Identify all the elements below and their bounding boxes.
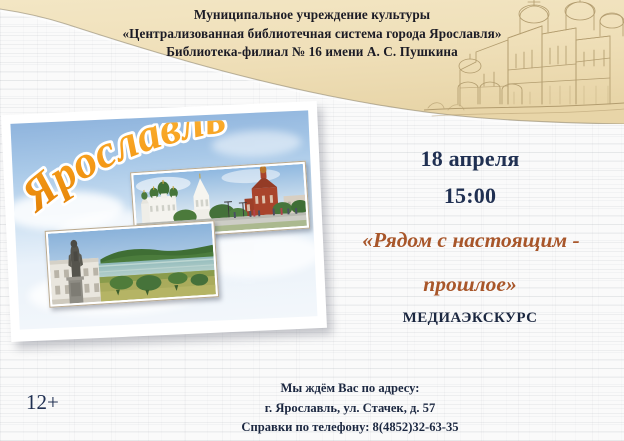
event-date: 18 апреля: [330, 146, 610, 172]
header-line-2: «Централизованная библиотечная система г…: [0, 25, 624, 44]
event-title-line-2: прошлое»: [330, 272, 610, 297]
event-time: 15:00: [330, 183, 610, 209]
event-title-line-1: «Рядом с настоящим -: [318, 228, 624, 253]
header-line-3: Библиотека-филиал № 16 имени А. С. Пушки…: [0, 43, 624, 62]
footer-line-2: г. Ярославль, ул. Стачек, д. 57: [120, 399, 580, 419]
collage-sky-background: Ярославль Ярославль: [10, 110, 317, 329]
city-name-fill: Ярославль: [19, 116, 233, 223]
city-name-script: Ярославль Ярославль: [19, 116, 313, 225]
age-rating-badge: 12+: [26, 390, 59, 415]
header-text-block: Муниципальное учреждение культуры «Центр…: [0, 6, 624, 62]
svg-text:Ярославль: Ярославль: [19, 116, 233, 223]
footer-line-1: Мы ждём Вас по адресу:: [120, 379, 580, 399]
photo-monument-river: [45, 220, 219, 308]
photo-collage-card: Ярославль Ярославль: [1, 101, 327, 342]
event-format: МЕДИАЭКСКУРС: [330, 310, 610, 327]
poster-canvas: Муниципальное учреждение культуры «Центр…: [0, 0, 624, 441]
footer-contact-block: Мы ждём Вас по адресу: г. Ярославль, ул.…: [120, 379, 580, 438]
footer-line-3: Справки по телефону: 8(4852)32-63-35: [120, 418, 580, 438]
header-line-1: Муниципальное учреждение культуры: [0, 6, 624, 25]
